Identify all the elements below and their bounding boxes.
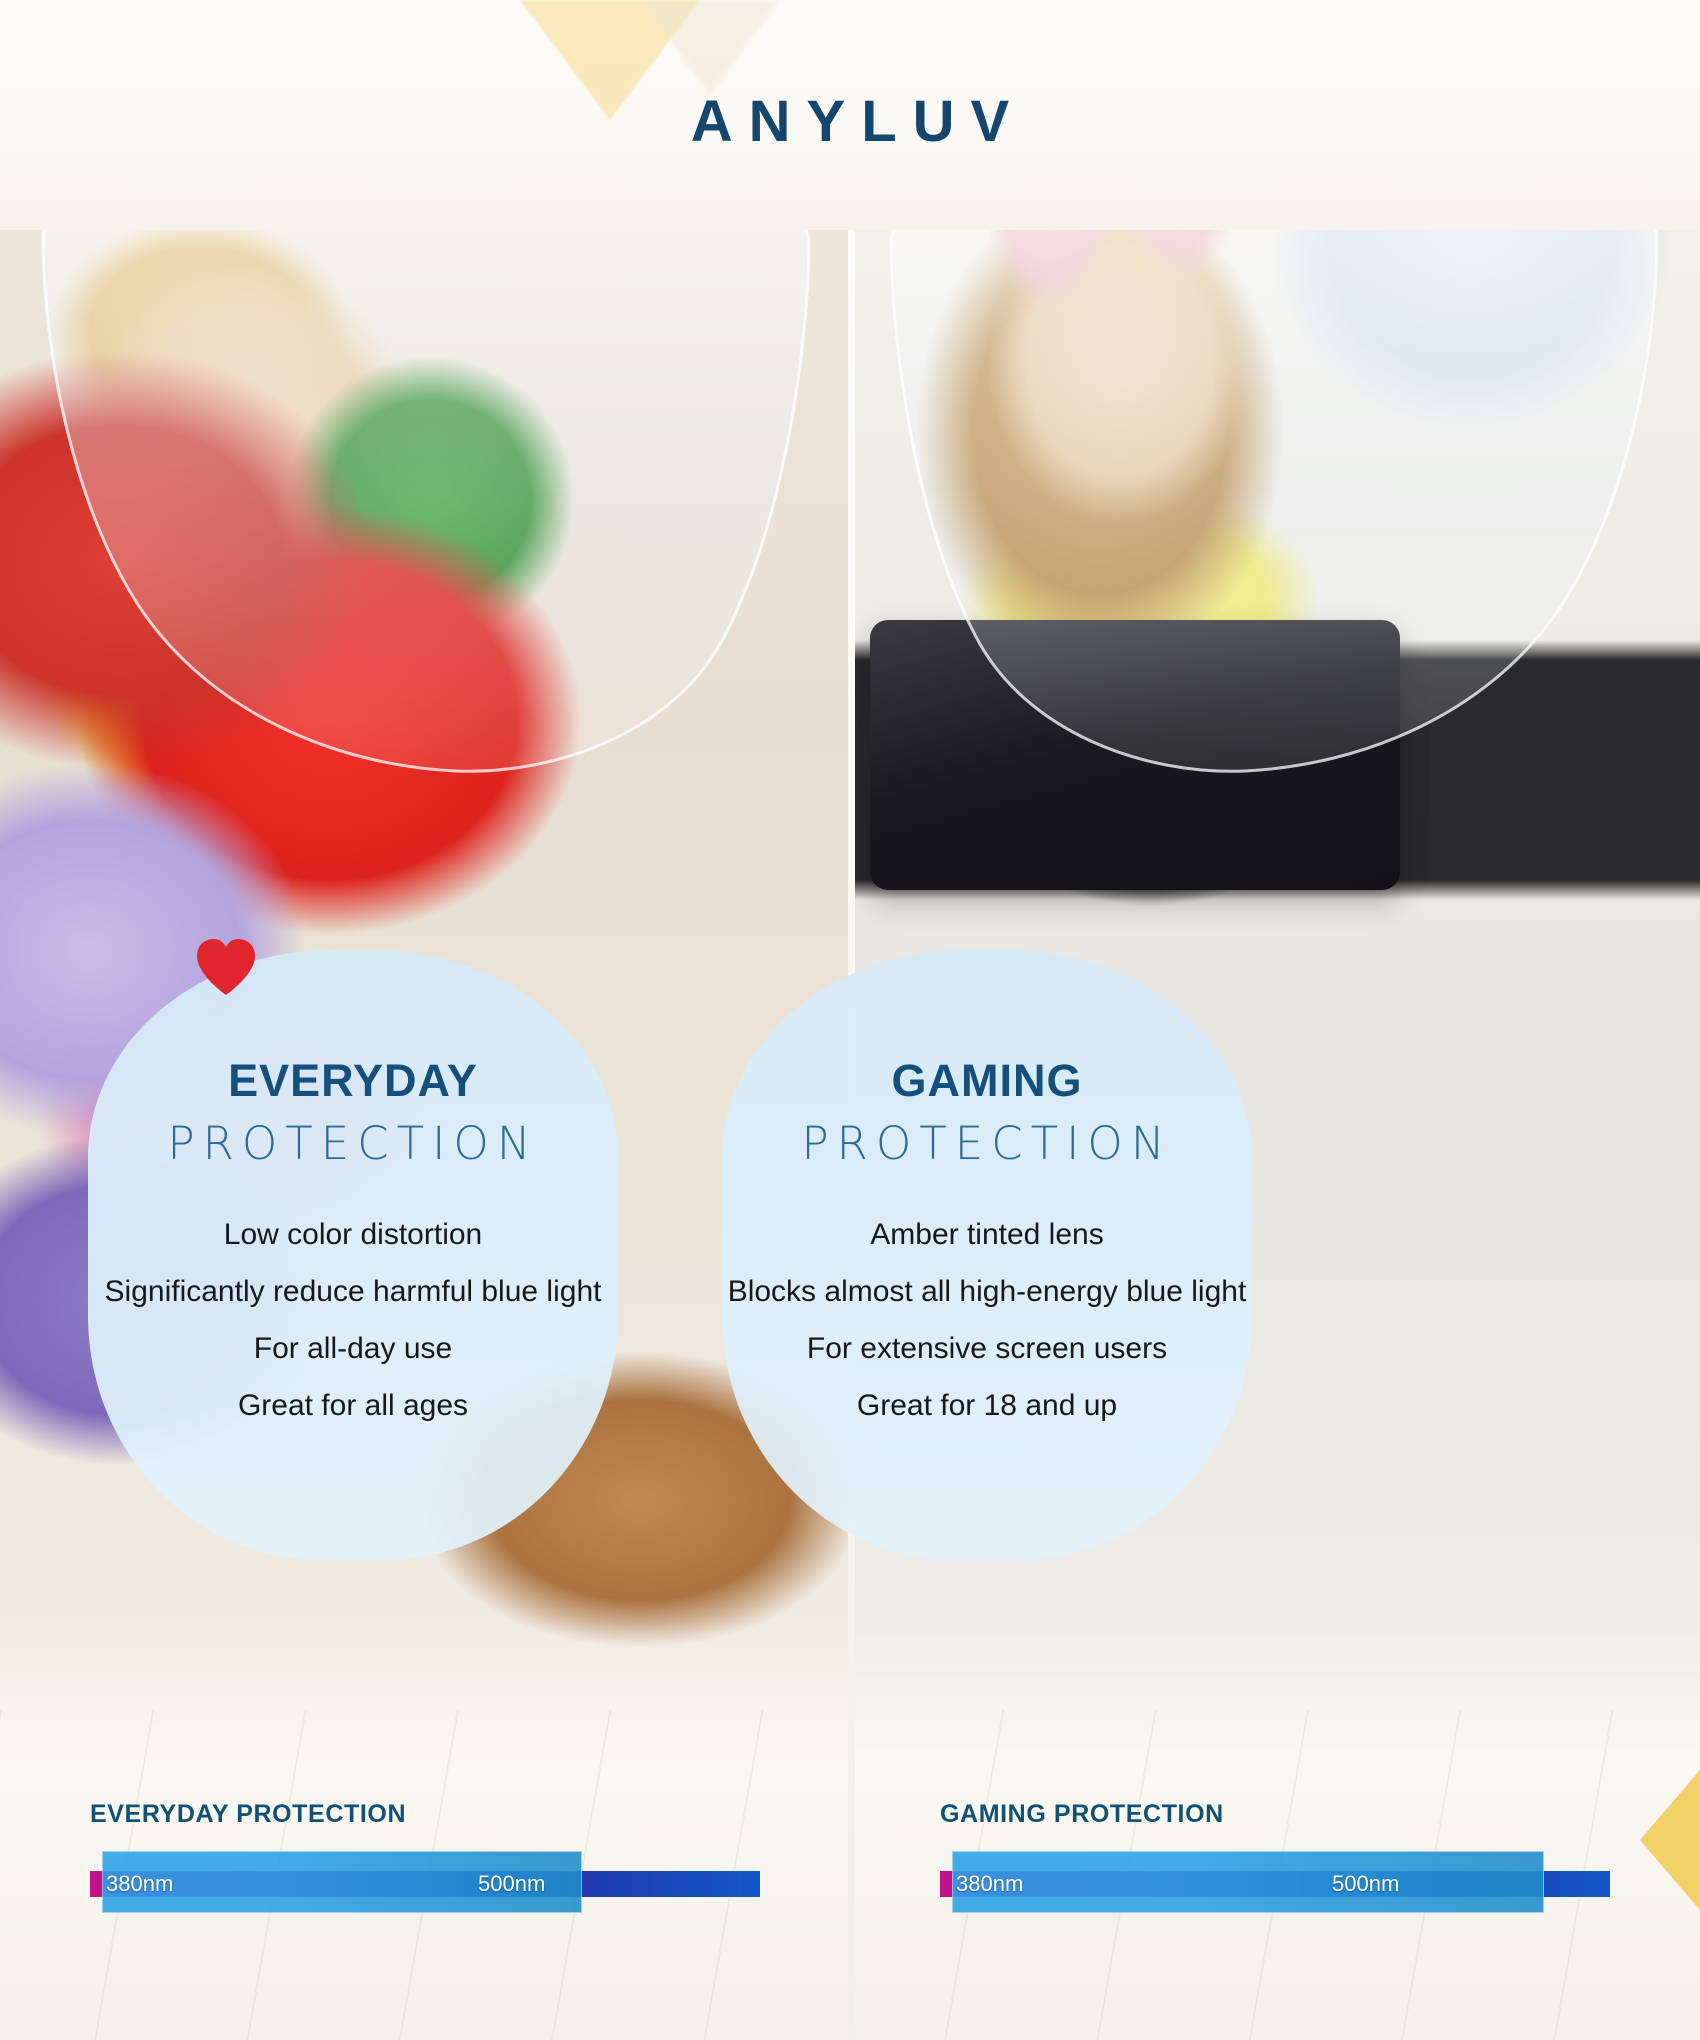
corner-triangle-decoration: [1640, 1770, 1700, 1910]
spectrum-gaming: GAMING PROTECTION 380nm 500nm: [940, 1800, 1610, 1913]
list-item: For all-day use: [88, 1334, 618, 1364]
spectrum-end-label-right: 500nm: [1332, 1873, 1399, 1895]
list-item: Low color distortion: [88, 1220, 618, 1250]
brand-logo: ANYLUV: [0, 88, 1700, 155]
spectrum-blocked-range-right: [952, 1851, 1544, 1913]
card-subtitle-gaming: PROTECTION: [801, 1121, 1172, 1166]
list-item: For extensive screen users: [722, 1334, 1252, 1364]
spectrum-label-everyday: EVERYDAY PROTECTION: [90, 1800, 760, 1829]
spectrum-end-label-left: 500nm: [478, 1873, 545, 1895]
spectrum-bar-everyday: 380nm 500nm: [90, 1851, 760, 1913]
list-item: Blocks almost all high-energy blue light: [722, 1277, 1252, 1307]
feature-list-everyday: Low color distortion Significantly reduc…: [88, 1220, 618, 1448]
spectrum-label-gaming: GAMING PROTECTION: [940, 1800, 1610, 1829]
card-title-everyday: EVERYDAY: [228, 1058, 478, 1103]
card-title-gaming: GAMING: [892, 1058, 1083, 1103]
list-item: Amber tinted lens: [722, 1220, 1252, 1250]
spectrum-start-label-right: 380nm: [956, 1873, 1023, 1895]
header-bar: ANYLUV: [0, 0, 1700, 230]
spectrum-start-label-left: 380nm: [106, 1873, 173, 1895]
feature-list-gaming: Amber tinted lens Blocks almost all high…: [722, 1220, 1252, 1448]
info-card-everyday: EVERYDAY PROTECTION Low color distortion…: [88, 950, 618, 1560]
spectrum-bar-gaming: 380nm 500nm: [940, 1851, 1610, 1913]
spectrum-everyday: EVERYDAY PROTECTION 380nm 500nm: [90, 1800, 760, 1913]
info-card-gaming: GAMING PROTECTION Amber tinted lens Bloc…: [722, 950, 1252, 1560]
card-subtitle-everyday: PROTECTION: [167, 1121, 538, 1166]
product-comparison-page: ANYLUV EVERYDAY PROTECTION Low color dis…: [0, 0, 1700, 2040]
heart-icon: [195, 938, 257, 996]
list-item: Significantly reduce harmful blue light: [88, 1277, 618, 1307]
list-item: Great for all ages: [88, 1391, 618, 1421]
list-item: Great for 18 and up: [722, 1391, 1252, 1421]
bunting-triangle-cream-icon: [640, 0, 780, 95]
